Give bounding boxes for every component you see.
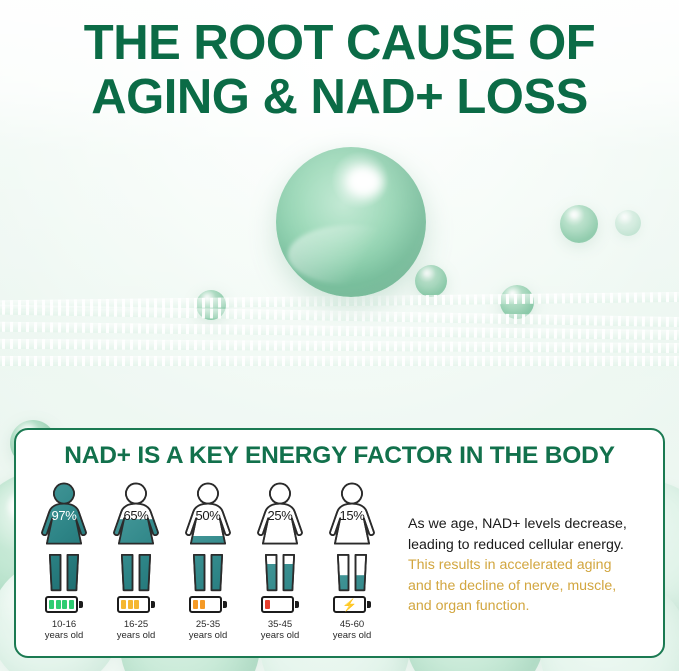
age-range-label: 35-45years old	[261, 619, 300, 641]
person-fill	[250, 564, 310, 592]
battery-cell	[200, 600, 205, 609]
info-card: NAD+ IS A KEY ENERGY FACTOR IN THE BODY …	[14, 428, 665, 658]
person-pictogram: 25%	[250, 480, 310, 592]
age-range-line-2: years old	[261, 630, 300, 641]
person-pictogram: 50%	[178, 480, 238, 592]
battery-icon	[261, 596, 299, 613]
percentage-label: 25%	[250, 508, 310, 523]
age-range-label: 16-25years old	[117, 619, 156, 641]
battery-tip	[295, 601, 299, 608]
description-paragraph: As we age, NAD+ levels decrease, leading…	[408, 514, 658, 617]
person-pictogram: 97%	[34, 480, 94, 592]
paragraph-amber-line-1: This results in accelerated aging	[408, 555, 658, 576]
age-range-line-2: years old	[45, 630, 84, 641]
age-range-label: 45-60years old	[333, 619, 372, 641]
person-silhouette	[34, 480, 94, 592]
lightning-bolt-icon: ⚡	[333, 596, 366, 613]
age-range-line-2: years old	[117, 630, 156, 641]
percentage-label: 97%	[34, 508, 94, 523]
person-fill	[34, 483, 94, 592]
age-range-line-1: 10-16	[52, 619, 76, 630]
age-range-line-2: years old	[189, 630, 228, 641]
battery-icon	[45, 596, 83, 613]
battery-body	[45, 596, 78, 613]
battery-body	[261, 596, 294, 613]
battery-cell	[56, 600, 61, 609]
battery-indicator	[189, 592, 227, 613]
percentage-label: 65%	[106, 508, 166, 523]
headline-line-1: THE ROOT CAUSE OF	[0, 16, 679, 70]
battery-cell	[62, 600, 67, 609]
figure-column-45-60: 15% ⚡ 45-60years old	[322, 480, 382, 641]
age-range-line-1: 25-35	[196, 619, 220, 630]
battery-indicator	[261, 592, 299, 613]
card-title: NAD+ IS A KEY ENERGY FACTOR IN THE BODY	[16, 430, 663, 470]
battery-body	[189, 596, 222, 613]
paragraph-amber-line-3: and organ function.	[408, 596, 658, 617]
battery-cell	[49, 600, 54, 609]
battery-tip	[79, 601, 83, 608]
battery-icon	[117, 596, 155, 613]
figure-column-10-16: 97% 10-16years old	[34, 480, 94, 641]
person-silhouette	[322, 480, 382, 592]
page-title: THE ROOT CAUSE OF AGING & NAD+ LOSS	[0, 16, 679, 124]
battery-tip	[151, 601, 155, 608]
person-pictogram: 15%	[322, 480, 382, 592]
figures-row: 97% 10-16years old 65%	[34, 480, 382, 641]
battery-icon	[189, 596, 227, 613]
battery-indicator	[45, 592, 83, 613]
battery-cell	[69, 600, 74, 609]
battery-indicator: ⚡	[333, 592, 371, 613]
age-range-line-1: 16-25	[124, 619, 148, 630]
figure-column-16-25: 65% 16-25years old	[106, 480, 166, 641]
percentage-label: 15%	[322, 508, 382, 523]
percentage-label: 50%	[178, 508, 238, 523]
figure-column-35-45: 25% 35-45years old	[250, 480, 310, 641]
person-pictogram: 65%	[106, 480, 166, 592]
paragraph-dark-line-1: As we age, NAD+ levels decrease,	[408, 514, 658, 535]
age-range-line-1: 35-45	[268, 619, 292, 630]
paragraph-dark-line-2: leading to reduced cellular energy.	[408, 535, 658, 556]
battery-cell	[265, 600, 270, 609]
person-silhouette	[178, 480, 238, 592]
paragraph-amber-line-2: and the decline of nerve, muscle,	[408, 576, 658, 597]
card-body: 97% 10-16years old 65%	[16, 470, 663, 650]
battery-cell	[121, 600, 126, 609]
battery-tip	[223, 601, 227, 608]
person-silhouette	[250, 480, 310, 592]
battery-tip	[367, 601, 371, 608]
age-range-label: 10-16years old	[45, 619, 84, 641]
headline-line-2: AGING & NAD+ LOSS	[0, 70, 679, 124]
battery-body	[117, 596, 150, 613]
battery-cell	[193, 600, 198, 609]
battery-indicator	[117, 592, 155, 613]
age-range-line-1: 45-60	[340, 619, 364, 630]
age-range-line-2: years old	[333, 630, 372, 641]
person-fill	[322, 575, 382, 592]
battery-cell	[128, 600, 133, 609]
age-range-label: 25-35years old	[189, 619, 228, 641]
person-silhouette	[106, 480, 166, 592]
battery-cell	[134, 600, 139, 609]
figure-column-25-35: 50% 25-35years old	[178, 480, 238, 641]
battery-icon-empty: ⚡	[333, 596, 371, 613]
